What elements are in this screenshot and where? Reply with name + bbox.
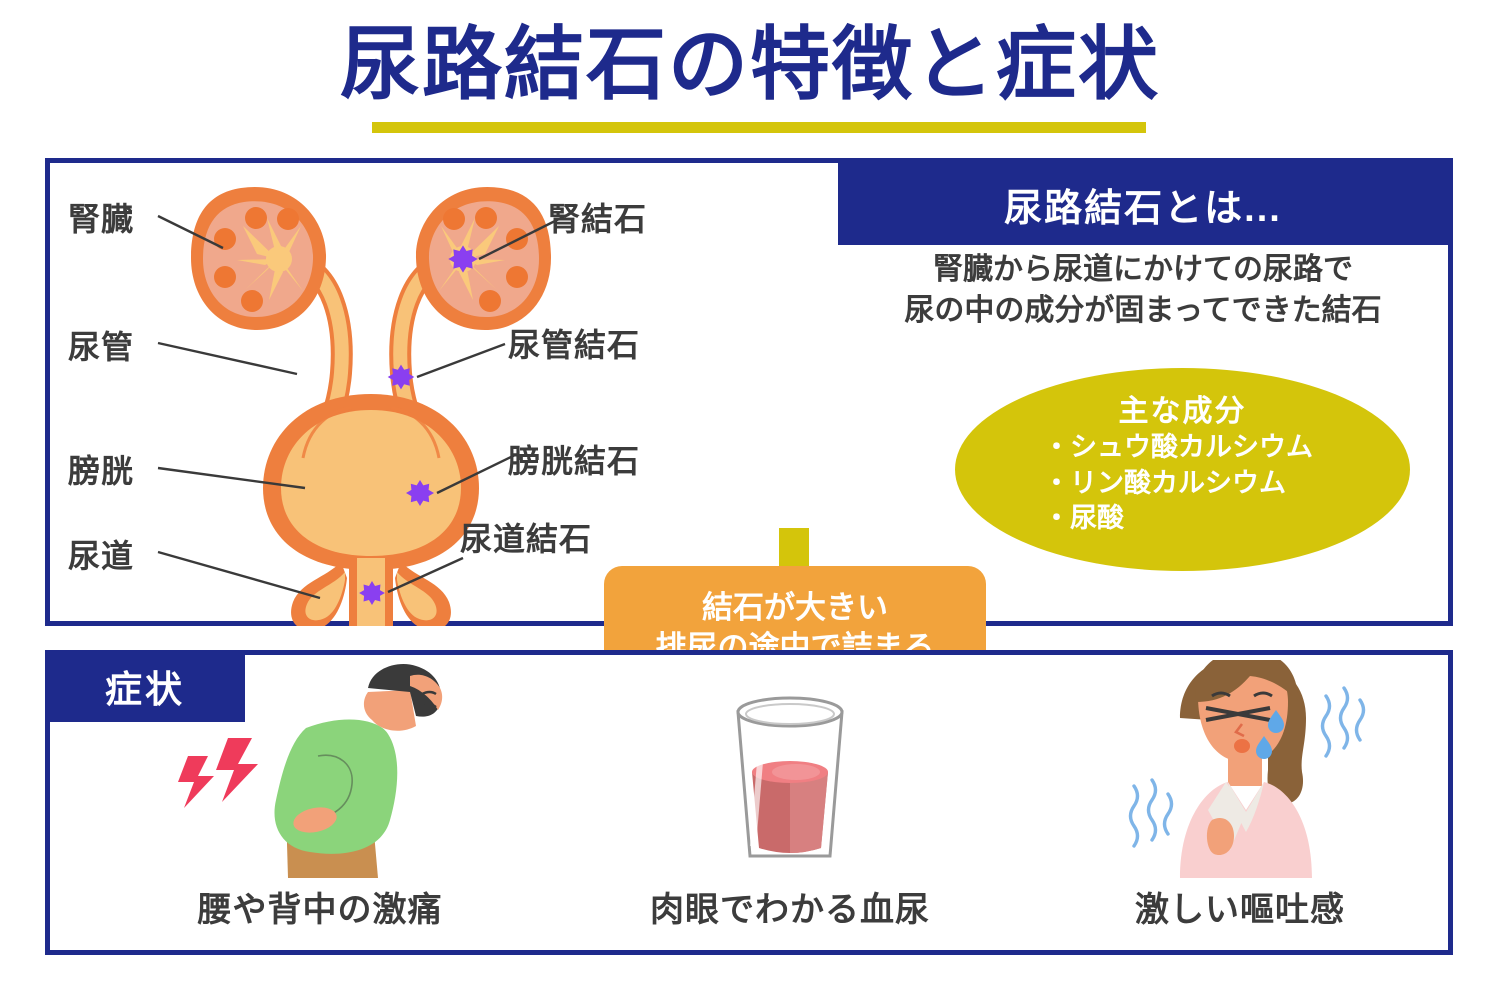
urinary-tract-diagram bbox=[45, 158, 845, 626]
composition-item: ・尿酸 bbox=[1043, 501, 1403, 537]
label-urethra: 尿道 bbox=[68, 531, 134, 577]
symptom-item: 腰や背中の激痛 bbox=[110, 660, 530, 945]
label-kidney-stone: 腎結石 bbox=[548, 194, 647, 240]
info-description: 腎臓から尿道にかけての尿路で 尿の中の成分が固まってできた結石 bbox=[838, 250, 1448, 331]
man-back-pain-icon bbox=[110, 660, 530, 878]
woman-nausea-icon bbox=[1030, 660, 1450, 878]
blood-urine-cup-icon bbox=[580, 660, 1000, 878]
kidney-right-icon bbox=[416, 187, 551, 330]
info-header-title: 尿路結石とは... bbox=[1004, 177, 1282, 232]
label-bladder: 膀胱 bbox=[68, 446, 134, 492]
symptom-caption: 肉眼でわかる血尿 bbox=[580, 882, 1000, 931]
label-urethra-stone: 尿道結石 bbox=[460, 514, 592, 560]
kidney-left-icon bbox=[191, 187, 326, 330]
flow-badge-line-1: 結石が大きい bbox=[702, 588, 888, 628]
symptom-item: 激しい嘔吐感 bbox=[1030, 660, 1450, 945]
symptom-caption: 腰や背中の激痛 bbox=[110, 882, 530, 931]
symptom-item: 肉眼でわかる血尿 bbox=[580, 660, 1000, 945]
label-ureter: 尿管 bbox=[68, 322, 134, 368]
composition-item: ・リン酸カルシウム bbox=[1043, 466, 1403, 502]
composition-item: ・シュウ酸カルシウム bbox=[1043, 430, 1403, 466]
info-description-line-1: 腎臓から尿道にかけての尿路で bbox=[838, 250, 1448, 291]
symptom-caption: 激しい嘔吐感 bbox=[1030, 882, 1450, 931]
composition-ellipse: 主な成分 ・シュウ酸カルシウム ・リン酸カルシウム ・尿酸 bbox=[955, 368, 1410, 571]
page-title: 尿路結石の特徴と症状 bbox=[0, 22, 1500, 106]
info-description-line-2: 尿の中の成分が固まってできた結石 bbox=[838, 291, 1448, 332]
label-kidney: 腎臓 bbox=[68, 194, 134, 240]
title-underline bbox=[372, 122, 1146, 133]
composition-title: 主な成分 bbox=[955, 386, 1410, 430]
infographic-root: 尿路結石の特徴と症状 bbox=[0, 0, 1500, 1000]
label-ureter-stone: 尿管結石 bbox=[508, 320, 640, 366]
page-title-block: 尿路結石の特徴と症状 bbox=[0, 22, 1500, 106]
composition-list: ・シュウ酸カルシウム ・リン酸カルシウム ・尿酸 bbox=[1043, 430, 1403, 537]
info-header: 尿路結石とは... bbox=[838, 163, 1448, 245]
label-bladder-stone: 膀胱結石 bbox=[508, 436, 640, 482]
